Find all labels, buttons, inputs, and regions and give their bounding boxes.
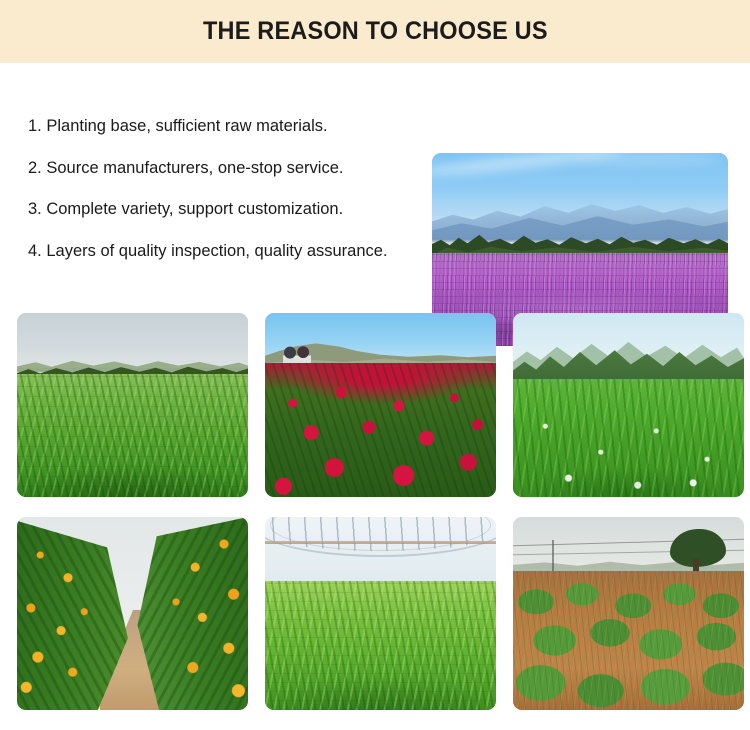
reason-item-4: 4. Layers of quality inspection, quality… [28, 243, 418, 260]
reason-item-3: 3. Complete variety, support customizati… [28, 201, 418, 218]
sky-layer [17, 313, 248, 368]
mugwort-field-photo [17, 313, 248, 497]
page-title: THE REASON TO CHOOSE US [203, 17, 548, 46]
rosemary-scene [513, 517, 744, 710]
jasmine-rows-layer [513, 379, 744, 497]
roof-rib-pattern [265, 517, 496, 551]
greenhouse-photo [265, 517, 496, 710]
greenhouse-scene [265, 517, 496, 710]
reason-item-1: 1. Planting base, sufficient raw materia… [28, 118, 418, 135]
page-header-banner: THE REASON TO CHOOSE US [0, 0, 750, 63]
jasmine-field-photo [513, 313, 744, 497]
grass-texture [513, 571, 744, 710]
orchard-scene [17, 517, 248, 710]
mugwort-scene [17, 313, 248, 497]
intro-section: 1. Planting base, sufficient raw materia… [0, 63, 750, 295]
white-blossom-texture [513, 379, 744, 497]
foliage-texture [265, 581, 496, 710]
jasmine-scene [513, 313, 744, 497]
crop-bed-layer [265, 581, 496, 710]
rose-field-photo [265, 313, 496, 497]
foliage-texture [17, 374, 248, 497]
reason-list: 1. Planting base, sufficient raw materia… [28, 118, 418, 259]
support-beam [265, 541, 496, 543]
reason-item-2: 2. Source manufacturers, one-stop servic… [28, 160, 418, 177]
cloud-shape [574, 155, 722, 163]
rose-scene [265, 313, 496, 497]
rose-blooms-texture [265, 363, 496, 497]
crop-field-layer [17, 374, 248, 497]
rosemary-field-photo [513, 517, 744, 710]
orange-orchard-photo [17, 517, 248, 710]
rose-rows-layer [265, 363, 496, 497]
